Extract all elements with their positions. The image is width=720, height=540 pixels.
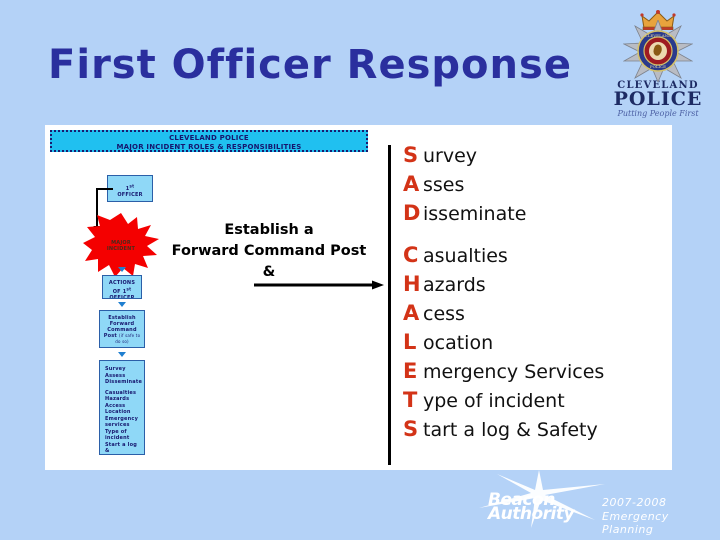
police-star-icon: CLEVELAND POLICE xyxy=(623,20,693,82)
starburst-label: MAJORINCIDENT xyxy=(83,240,159,252)
acr-rest: urvey xyxy=(423,145,477,167)
flow-connector-3 xyxy=(118,352,126,357)
acr-initial: L xyxy=(403,330,420,354)
list-item: H azards xyxy=(403,272,604,301)
cleveland-police-logo: CLEVELAND POLICE CLEVELAND POLICE Puttin… xyxy=(602,2,714,122)
acr-rest: asualties xyxy=(423,245,508,267)
sad-list: S urvey A sses D isseminate xyxy=(403,143,526,230)
flow-box-sad-chalets-label: SurveyAssessDisseminate CasualtiesHazard… xyxy=(105,366,143,455)
chalets-list: C asualties H azards A cess L ocation E … xyxy=(403,243,604,446)
acronym-lists: S urvey A sses D isseminate C asualties … xyxy=(395,125,672,470)
flow-box-first-officer-label: 1stOFFICER xyxy=(117,186,142,198)
svg-text:POLICE: POLICE xyxy=(650,64,666,69)
caption-line-2: Forward Command Post xyxy=(155,241,383,262)
beacon-authority-logo: Beacon Authority 2007-2008 Emergency Pla… xyxy=(452,470,720,540)
svg-text:CLEVELAND: CLEVELAND xyxy=(645,33,672,38)
acr-rest: cess xyxy=(423,303,465,325)
acr-rest: ype of incident xyxy=(423,390,565,412)
flow-box-fcp-note: (if safe to do so) xyxy=(115,333,140,344)
acr-initial: D xyxy=(403,201,420,225)
caption-arrow-icon xyxy=(254,280,384,290)
list-item: E mergency Services xyxy=(403,359,604,388)
acr-initial: S xyxy=(403,143,420,167)
list-item: C asualties xyxy=(403,243,604,272)
page-title: First Officer Response xyxy=(0,42,620,88)
list-item: S urvey xyxy=(403,143,526,172)
list-item: S tart a log & Safety xyxy=(403,417,604,446)
acr-rest: isseminate xyxy=(423,203,526,225)
acr-initial: E xyxy=(403,359,420,383)
list-item: A cess xyxy=(403,301,604,330)
flow-box-actions-of-first-officer: ACTIONSOF 1stOFFICER xyxy=(102,275,142,299)
flowchart-banner: CLEVELAND POLICE MAJOR INCIDENT ROLES & … xyxy=(50,130,368,152)
list-item: L ocation xyxy=(403,330,604,359)
establish-caption: Establish a Forward Command Post & xyxy=(155,220,383,283)
flow-box-sad-chalets: SurveyAssessDisseminate CasualtiesHazard… xyxy=(99,360,145,455)
flowchart-banner-line2: MAJOR INCIDENT ROLES & RESPONSIBILITIES xyxy=(52,143,366,152)
list-item: T ype of incident xyxy=(403,388,604,417)
acr-initial: S xyxy=(403,417,420,441)
acr-rest: sses xyxy=(423,174,464,196)
acr-initial: A xyxy=(403,172,420,196)
acr-rest: ocation xyxy=(423,332,493,354)
flow-connector-1 xyxy=(118,267,126,272)
flow-box-forward-command-post: EstablishForwardCommandPost (if safe to … xyxy=(99,310,145,348)
flow-connector-2 xyxy=(118,302,126,307)
police-logo-tagline: Putting People First xyxy=(602,110,714,118)
acr-initial: T xyxy=(403,388,420,412)
acr-initial: A xyxy=(403,301,420,325)
major-incident-flowchart: CLEVELAND POLICE MAJOR INCIDENT ROLES & … xyxy=(45,125,385,470)
beacon-year: 2007-2008 xyxy=(602,496,666,509)
caption-line-1: Establish a xyxy=(155,220,383,241)
crest-graphic: CLEVELAND POLICE xyxy=(602,2,714,80)
acr-initial: H xyxy=(403,272,420,296)
acr-rest: azards xyxy=(423,274,486,296)
acr-rest: mergency Services xyxy=(423,361,604,383)
list-item: A sses xyxy=(403,172,526,201)
beacon-subtitle: Emergency Planning xyxy=(602,510,720,536)
acr-initial: C xyxy=(403,243,420,267)
panel-divider xyxy=(388,145,391,465)
beacon-word-2: Authority xyxy=(488,504,574,524)
police-logo-line2: POLICE xyxy=(602,90,714,109)
flow-box-actions-label: ACTIONSOF 1stOFFICER xyxy=(109,280,135,299)
content-panel: CLEVELAND POLICE MAJOR INCIDENT ROLES & … xyxy=(45,125,672,470)
acr-rest: tart a log & Safety xyxy=(423,419,598,441)
list-item: D isseminate xyxy=(403,201,526,230)
